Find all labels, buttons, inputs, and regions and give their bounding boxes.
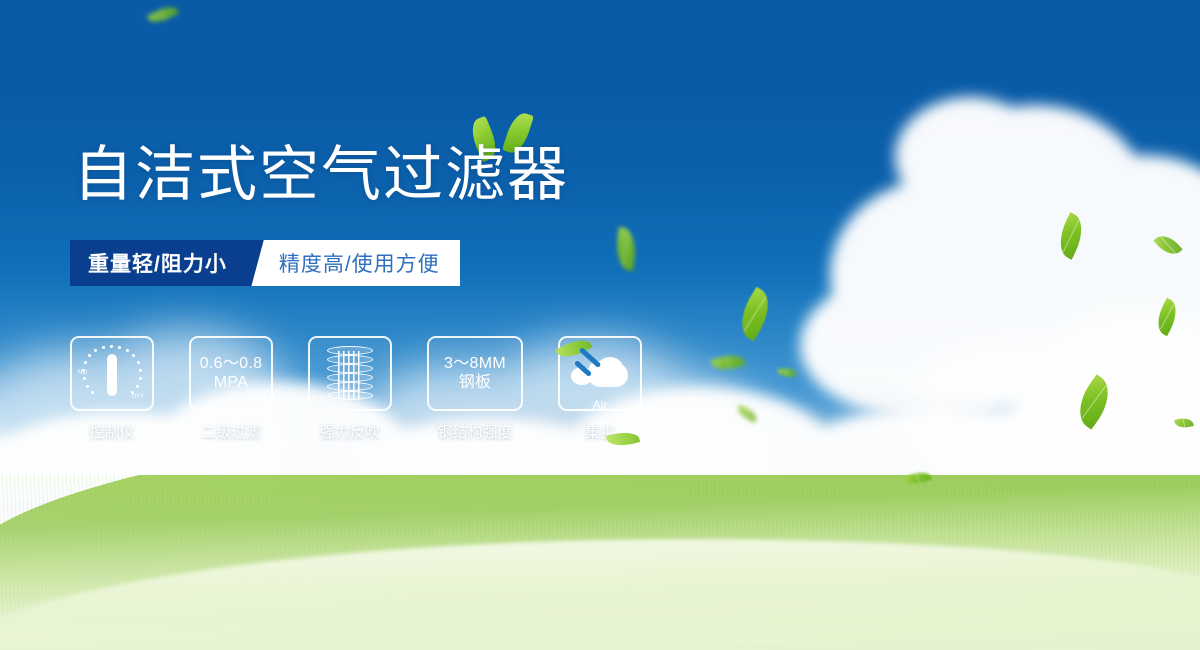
feature-icon-list: NO OFF 控制仪 0.6～0.8 MPA 二级过滤 bbox=[70, 336, 642, 442]
air-label: Air bbox=[571, 398, 629, 412]
dial-label-no: NO bbox=[78, 370, 88, 376]
filter-stack-icon bbox=[327, 346, 373, 402]
subtitle-left: 重量轻/阻力小 bbox=[70, 240, 249, 286]
hero-banner: 自洁式空气过滤器 重量轻/阻力小 精度高/使用方便 bbox=[0, 0, 1200, 650]
control-dial-icon: NO OFF bbox=[82, 345, 142, 403]
feature-icon-box bbox=[308, 336, 392, 411]
grass-sheen bbox=[0, 475, 1200, 650]
feature-icon-box: NO OFF bbox=[70, 336, 154, 411]
floating-leaf bbox=[731, 287, 778, 341]
subtitle-right: 精度高/使用方便 bbox=[275, 240, 460, 286]
feature-caption: 强力反吹 bbox=[320, 421, 380, 442]
feature-icon-box: 3～8MM 钢板 bbox=[427, 336, 523, 411]
feature-item-strong-backblow[interactable]: 强力反吹 bbox=[308, 336, 392, 442]
feature-item-dust-collection[interactable]: Air 集尘 bbox=[558, 336, 642, 442]
feature-caption: 控制仪 bbox=[89, 421, 134, 442]
feature-icon-box: 0.6～0.8 MPA bbox=[189, 336, 273, 411]
subtitle-divider bbox=[249, 240, 275, 286]
feature-caption: 钢结构强度 bbox=[437, 421, 512, 442]
page-title: 自洁式空气过滤器 bbox=[73, 145, 569, 205]
feature-caption: 集尘 bbox=[585, 421, 615, 442]
feature-item-steel-strength[interactable]: 3～8MM 钢板 钢结构强度 bbox=[427, 336, 523, 442]
pressure-text-icon-line1: 0.6～0.8 bbox=[200, 355, 263, 374]
dial-label-off: OFF bbox=[132, 394, 145, 400]
feature-item-two-stage-filtration[interactable]: 0.6～0.8 MPA 二级过滤 bbox=[189, 336, 273, 442]
floating-leaf bbox=[613, 227, 639, 271]
air-cloud-icon: Air bbox=[571, 351, 629, 397]
feature-icon-box: Air bbox=[558, 336, 642, 411]
pressure-text-icon-line2: MPA bbox=[214, 374, 248, 393]
floating-leaf bbox=[147, 1, 179, 27]
feature-item-control-instrument[interactable]: NO OFF 控制仪 bbox=[70, 336, 154, 442]
steel-plate-text-icon-line2: 钢板 bbox=[459, 374, 492, 393]
dial-needle bbox=[107, 354, 117, 396]
steel-plate-text-icon-line1: 3～8MM bbox=[444, 355, 506, 374]
grass-field bbox=[0, 475, 1200, 650]
subtitle-bar: 重量轻/阻力小 精度高/使用方便 bbox=[70, 240, 460, 286]
feature-caption: 二级过滤 bbox=[201, 421, 261, 442]
